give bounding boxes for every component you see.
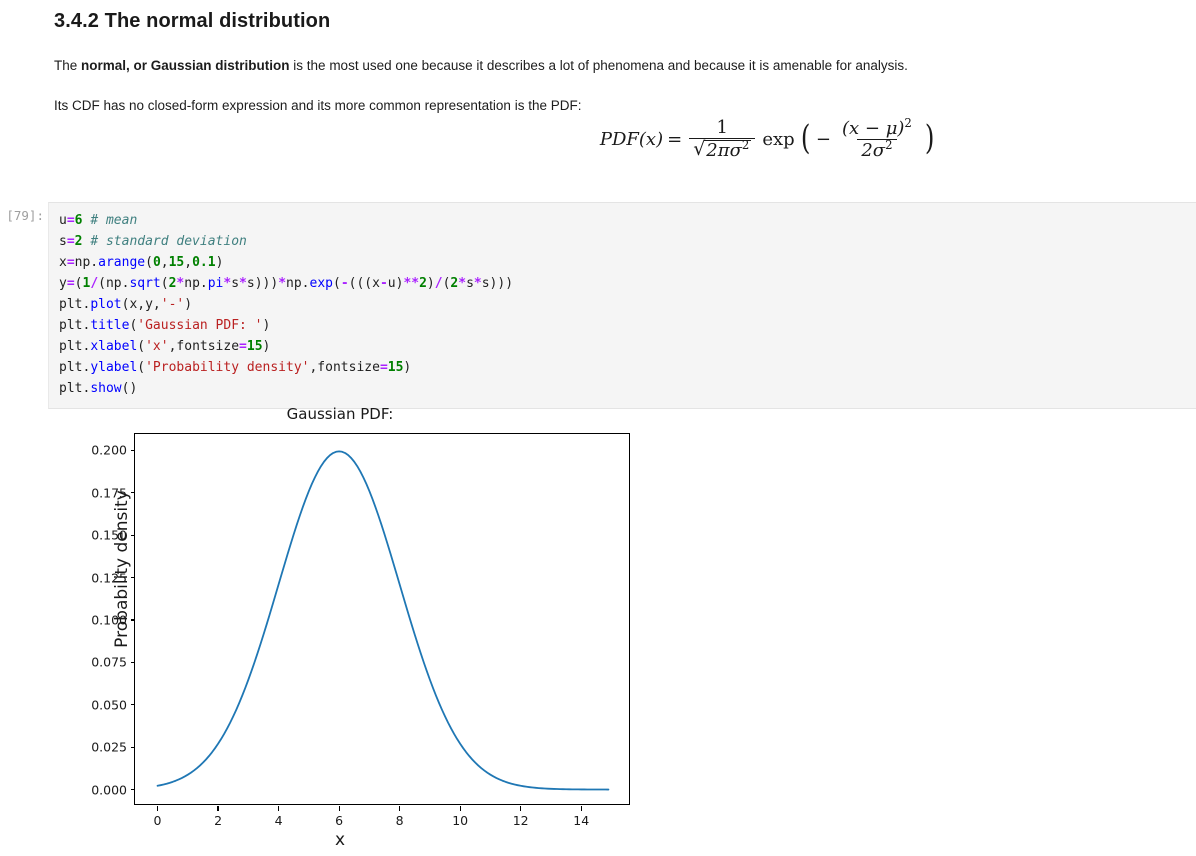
y-tick-mark: [131, 577, 136, 578]
x-tick-mark: [460, 806, 461, 811]
formula-equals: =: [667, 129, 682, 150]
notebook-page: { "document": { "heading": "3.4.2 The no…: [0, 0, 1196, 856]
x-tick-mark: [157, 806, 158, 811]
x-tick-label: 2: [214, 813, 222, 828]
paragraph1-before: The: [54, 58, 81, 73]
y-tick-label: 0.075: [91, 655, 127, 670]
y-tick-label: 0.000: [91, 782, 127, 797]
y-tick-mark: [131, 747, 136, 748]
x-tick-mark: [278, 806, 279, 811]
chart-axes: 0.0000.0250.0500.0750.1000.1250.1500.175…: [134, 433, 630, 805]
y-tick-label: 0.150: [91, 528, 127, 543]
page-title: 3.4.2 The normal distribution: [54, 0, 1134, 36]
formula-sqrt-exponent: 2: [742, 138, 749, 152]
code-editor[interactable]: u=6 # means=2 # standard deviationx=np.a…: [48, 202, 1196, 409]
formula-exponent-numerator-base: (x − μ): [842, 118, 904, 139]
x-tick-label: 12: [513, 813, 529, 828]
code-line-9: plt.show(): [59, 378, 1196, 399]
formula-exponent-sign: −: [816, 129, 831, 150]
paragraph1-bold: normal, or Gaussian distribution: [81, 58, 290, 73]
y-tick-label: 0.200: [91, 443, 127, 458]
code-line-4: y=(1/(np.sqrt(2*np.pi*s*s)))*np.exp(-(((…: [59, 273, 1196, 294]
formula-exponent-denominator-base: 2σ: [861, 140, 885, 161]
y-tick-label: 0.050: [91, 697, 127, 712]
formula-close-paren: ): [925, 124, 935, 154]
formula-coefficient-denominator: √2πσ2: [689, 138, 755, 160]
x-tick-label: 10: [452, 813, 468, 828]
figure-output: Gaussian PDF: Probability density x 0.00…: [40, 405, 660, 855]
y-tick-mark: [131, 662, 136, 663]
gaussian-pdf-line: [135, 434, 631, 806]
x-tick-label: 8: [396, 813, 404, 828]
formula-open-paren: (: [800, 124, 810, 154]
code-line-8: plt.ylabel('Probability density',fontsiz…: [59, 357, 1196, 378]
x-tick-label: 4: [275, 813, 283, 828]
y-tick-label: 0.100: [91, 613, 127, 628]
formula-exponent-denominator: 2σ2: [857, 139, 896, 160]
paragraph-cdf: Its CDF has no closed-form expression an…: [54, 76, 1134, 116]
code-line-2: s=2 # standard deviation: [59, 231, 1196, 252]
cell-execution-prompt: [79]:: [0, 208, 44, 223]
code-line-7: plt.xlabel('x',fontsize=15): [59, 336, 1196, 357]
code-line-3: x=np.arange(0,15,0.1): [59, 252, 1196, 273]
pdf-formula: PDF(x) = 1 √2πσ2 exp ( − (x − μ)2 2σ2 ): [600, 118, 936, 161]
gaussian-curve-path: [158, 451, 609, 789]
code-line-1: u=6 # mean: [59, 210, 1196, 231]
x-tick-mark: [520, 806, 521, 811]
x-tick-label: 0: [154, 813, 162, 828]
y-tick-mark: [131, 619, 136, 620]
y-tick-mark: [131, 450, 136, 451]
y-tick-mark: [131, 492, 136, 493]
paragraph1-after: is the most used one because it describe…: [290, 58, 908, 73]
formula-exponent-numerator: (x − μ)2: [838, 119, 916, 139]
formula-lhs: PDF(x): [600, 129, 663, 150]
formula-coefficient: 1 √2πσ2: [689, 118, 755, 161]
y-tick-label: 0.025: [91, 740, 127, 755]
x-tick-label: 6: [335, 813, 343, 828]
chart-xlabel: x: [40, 830, 640, 850]
x-tick-label: 14: [573, 813, 589, 828]
formula-exp-label: exp: [762, 129, 794, 150]
y-tick-label: 0.125: [91, 570, 127, 585]
markdown-cell: 3.4.2 The normal distribution The normal…: [54, 0, 1134, 116]
code-cell: [79]: u=6 # means=2 # standard deviation…: [0, 202, 1196, 409]
y-tick-mark: [131, 535, 136, 536]
y-tick-label: 0.175: [91, 485, 127, 500]
paragraph-normal-distribution: The normal, or Gaussian distribution is …: [54, 36, 1134, 76]
formula-sqrt-body: 2πσ: [706, 140, 742, 161]
formula-exponent-numerator-power: 2: [904, 116, 911, 130]
formula-exponent-denominator-power: 2: [885, 138, 892, 152]
x-tick-mark: [339, 806, 340, 811]
x-tick-mark: [399, 806, 400, 811]
code-line-5: plt.plot(x,y,'-'): [59, 294, 1196, 315]
y-tick-mark: [131, 704, 136, 705]
x-tick-mark: [581, 806, 582, 811]
chart-ylabel: Probability density: [112, 419, 132, 719]
y-tick-mark: [131, 789, 136, 790]
formula-row: PDF(x) = 1 √2πσ2 exp ( − (x − μ)2 2σ2 ): [0, 118, 1196, 161]
formula-coefficient-numerator: 1: [713, 118, 732, 138]
formula-exponent-fraction: (x − μ)2 2σ2: [838, 119, 916, 161]
x-tick-mark: [217, 806, 218, 811]
code-line-6: plt.title('Gaussian PDF: '): [59, 315, 1196, 336]
